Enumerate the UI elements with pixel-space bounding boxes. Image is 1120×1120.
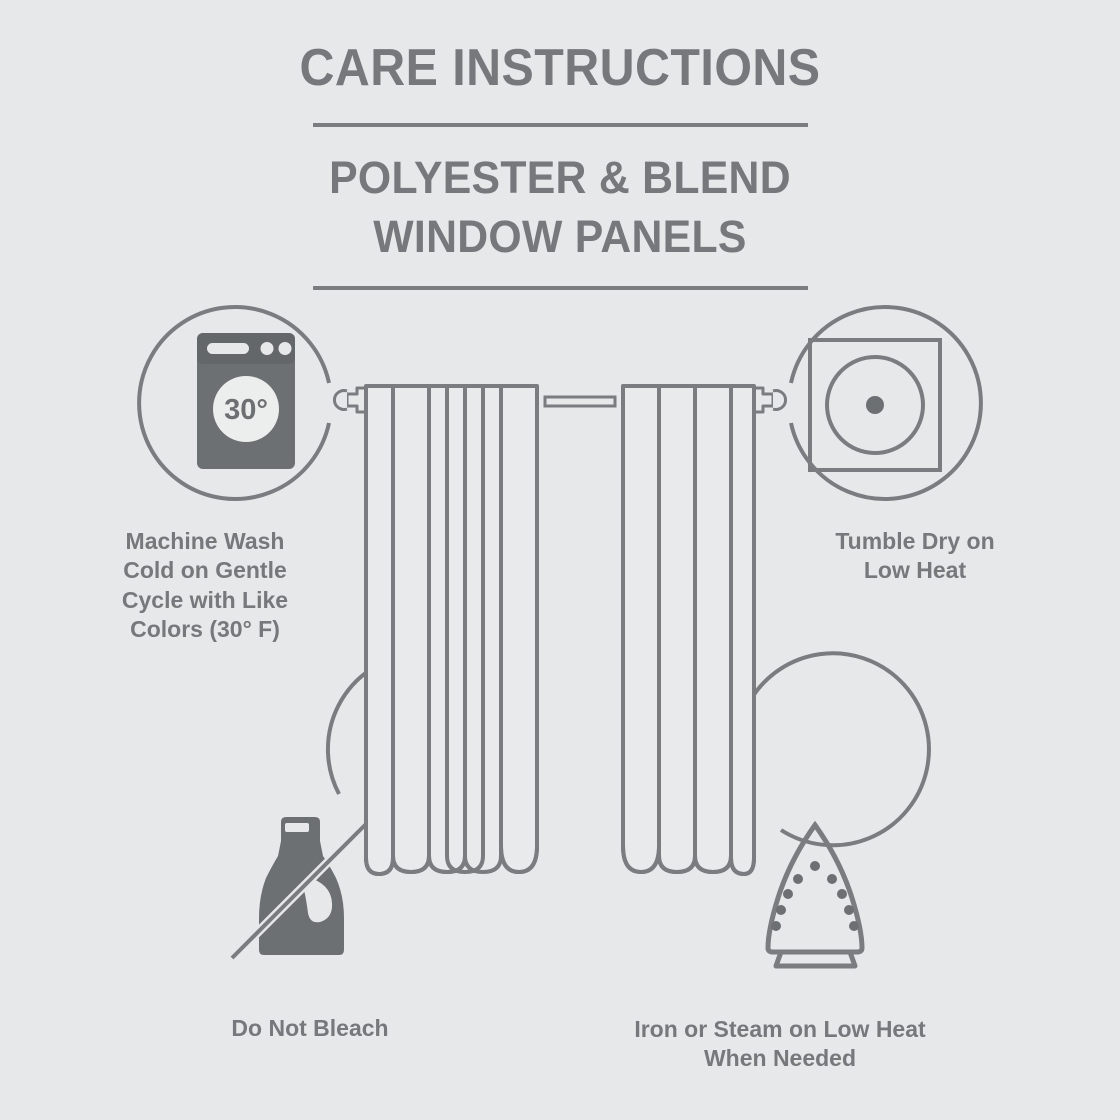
- dry-symbol-group: [791, 307, 981, 499]
- wash-temperature-label: 30°: [224, 394, 268, 426]
- dryer-low-heat-dot: [866, 396, 884, 414]
- steam-hole: [810, 861, 820, 871]
- wash-symbol-group: 30°: [139, 307, 329, 499]
- iron-symbol-group: [737, 653, 929, 966]
- steam-hole: [849, 921, 859, 931]
- washer-knob-1: [261, 342, 274, 355]
- finial-cap-left: [334, 391, 347, 410]
- bottle-cap-groove: [285, 823, 309, 832]
- rod-finial-left: [334, 388, 368, 412]
- steam-hole: [827, 874, 837, 884]
- curtain-rod: [545, 397, 615, 406]
- iron-caption: Iron or Steam on Low Heat When Needed: [620, 1015, 940, 1074]
- curtain-panels-on-rod: [334, 386, 785, 874]
- curtain-panel-left: [366, 386, 537, 874]
- washer-display: [207, 343, 249, 354]
- rod-bar: [545, 397, 615, 406]
- washer-knob-2: [279, 342, 292, 355]
- steam-hole: [844, 905, 854, 915]
- steam-hole: [793, 874, 803, 884]
- iron-circle-outline: [737, 653, 929, 845]
- wash-caption: Machine Wash Cold on Gentle Cycle with L…: [55, 527, 355, 645]
- washing-machine-icon: 30°: [197, 333, 295, 469]
- panel-right-outline: [623, 386, 754, 874]
- steam-hole: [783, 889, 793, 899]
- tumble-dry-low-icon: [810, 340, 940, 470]
- care-instructions-infographic: CARE INSTRUCTIONS POLYESTER & BLEND WIND…: [0, 0, 1120, 1120]
- steam-hole: [771, 921, 781, 931]
- curtain-panel-right: [623, 386, 754, 874]
- steam-hole: [776, 905, 786, 915]
- bleach-caption: Do Not Bleach: [160, 1015, 460, 1042]
- steam-hole: [837, 889, 847, 899]
- rod-finial-right: [752, 388, 786, 412]
- finial-cap-right: [773, 391, 786, 410]
- do-not-bleach-icon: [232, 817, 370, 958]
- dry-caption: Tumble Dry on Low Heat: [765, 527, 1065, 586]
